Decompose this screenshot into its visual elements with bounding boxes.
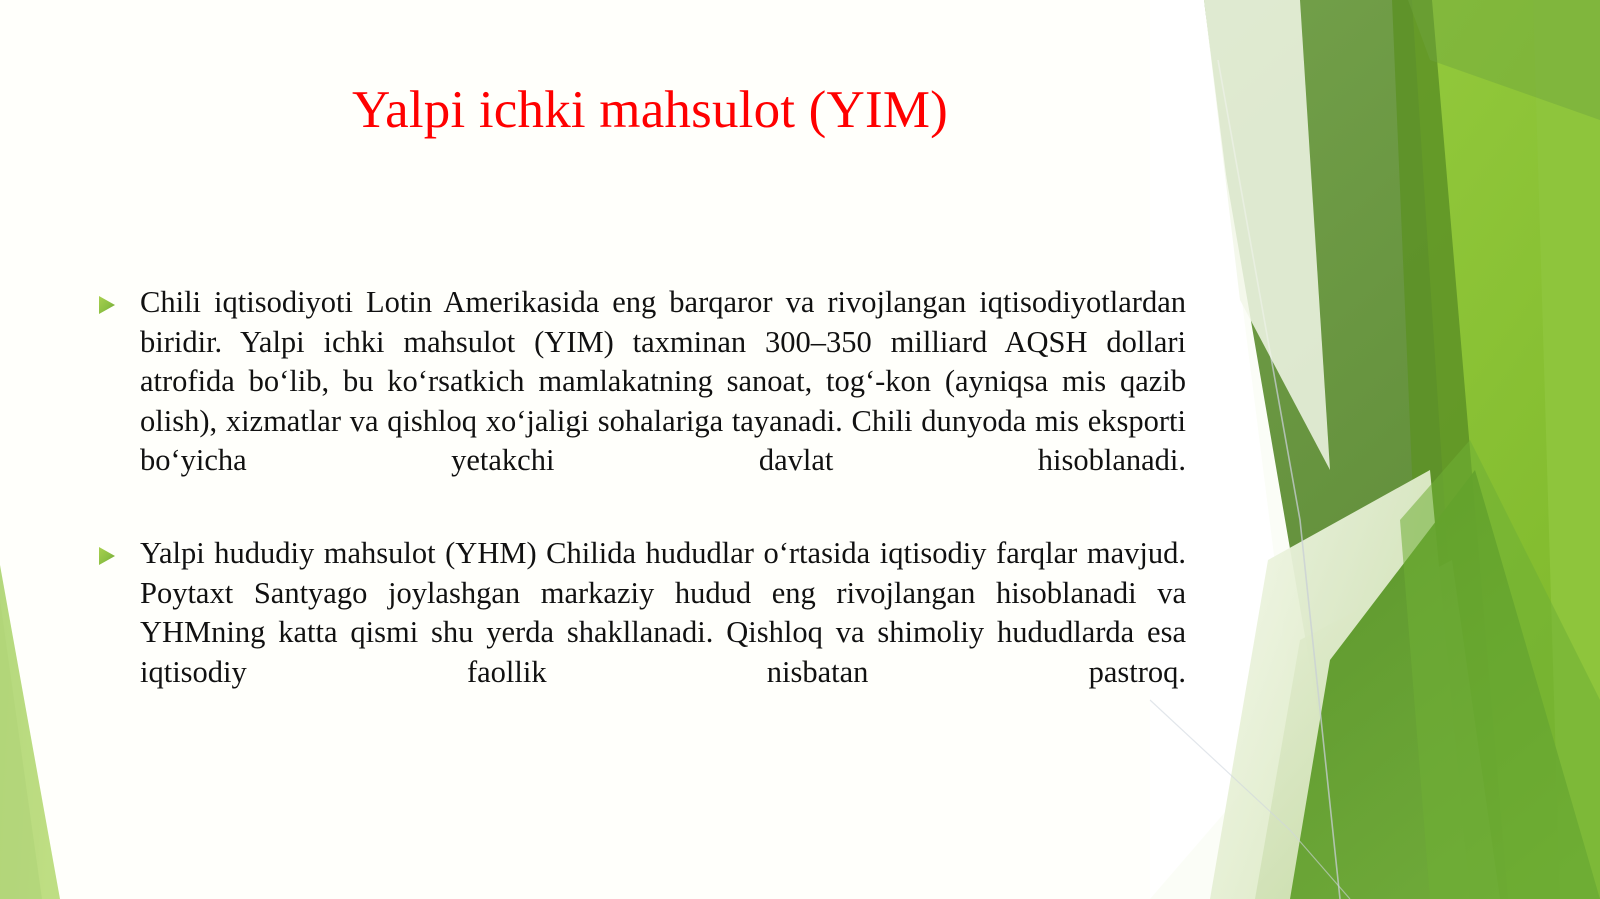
presentation-slide: Yalpi ichki mahsulot (YIM) Chili iqtisod…	[0, 0, 1600, 899]
triangle-right-bullet-icon	[96, 534, 140, 567]
triangle-right-bullet-icon	[96, 283, 140, 316]
page-title: Yalpi ichki mahsulot (YIM)	[120, 80, 1180, 141]
list-item: Yalpi hududiy mahsulot (YHM) Chilida hud…	[96, 534, 1186, 732]
bullet-paragraph-2: Yalpi hududiy mahsulot (YHM) Chilida hud…	[140, 534, 1186, 732]
bullet-paragraph-1: Chili iqtisodiyoti Lotin Amerikasida eng…	[140, 283, 1186, 520]
content-placeholder: Chili iqtisodiyoti Lotin Amerikasida eng…	[96, 283, 1186, 732]
list-item: Chili iqtisodiyoti Lotin Amerikasida eng…	[96, 283, 1186, 520]
title-placeholder: Yalpi ichki mahsulot (YIM)	[120, 80, 1180, 141]
